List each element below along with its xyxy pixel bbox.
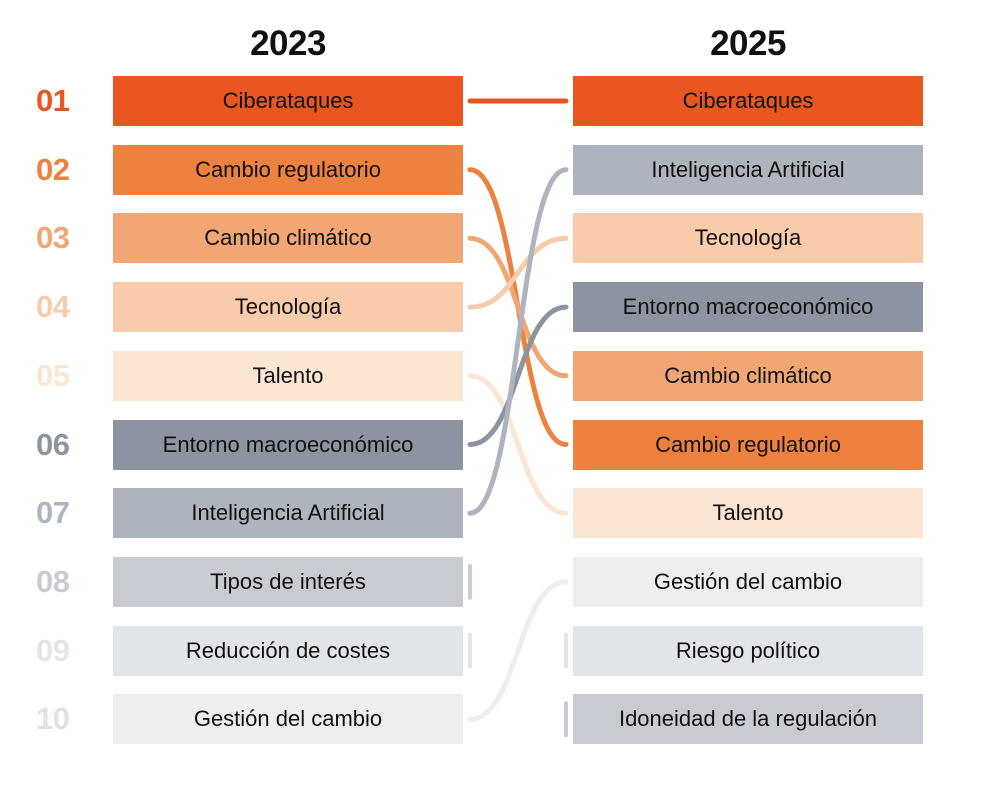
rank-number-06: 06	[36, 420, 96, 470]
rank-bar[interactable]: Ciberataques	[573, 76, 923, 126]
rank-bar[interactable]: Cambio climático	[113, 213, 463, 263]
rank-bar[interactable]: Gestión del cambio	[113, 694, 463, 744]
connector-line	[470, 582, 566, 719]
connector-line	[470, 238, 566, 375]
rank-bar[interactable]: Tipos de interés	[113, 557, 463, 607]
rank-bar[interactable]: Entorno macroeconómico	[113, 420, 463, 470]
rank-bar[interactable]: Ciberataques	[113, 76, 463, 126]
rank-number-07: 07	[36, 488, 96, 538]
rank-number-04: 04	[36, 282, 96, 332]
connector-line	[470, 170, 566, 514]
rank-bar[interactable]: Talento	[113, 351, 463, 401]
rank-bar[interactable]: Talento	[573, 488, 923, 538]
rank-bar[interactable]: Tecnología	[113, 282, 463, 332]
rank-bar[interactable]: Inteligencia Artificial	[573, 145, 923, 195]
rank-bar[interactable]: Cambio regulatorio	[573, 420, 923, 470]
rank-bar[interactable]: Cambio climático	[573, 351, 923, 401]
connector-line	[470, 376, 566, 513]
connector-line	[470, 170, 566, 445]
rank-bar[interactable]: Cambio regulatorio	[113, 145, 463, 195]
rank-bar[interactable]: Gestión del cambio	[573, 557, 923, 607]
rank-bar[interactable]: Entorno macroeconómico	[573, 282, 923, 332]
rank-number-05: 05	[36, 351, 96, 401]
rank-number-02: 02	[36, 145, 96, 195]
rank-number-03: 03	[36, 213, 96, 263]
bump-chart: 2023 2025 01Ciberataques02Cambio regulat…	[0, 0, 1000, 803]
connector-line	[470, 307, 566, 444]
rank-bar[interactable]: Reducción de costes	[113, 626, 463, 676]
rank-number-08: 08	[36, 557, 96, 607]
rank-bar[interactable]: Inteligencia Artificial	[113, 488, 463, 538]
column-header-2025: 2025	[573, 22, 923, 66]
rank-number-10: 10	[36, 694, 96, 744]
rank-number-09: 09	[36, 626, 96, 676]
rank-number-01: 01	[36, 76, 96, 126]
rank-bar[interactable]: Idoneidad de la regulación	[573, 694, 923, 744]
rank-bar[interactable]: Riesgo político	[573, 626, 923, 676]
rank-bar[interactable]: Tecnología	[573, 213, 923, 263]
connector-line	[470, 238, 566, 307]
column-header-2023: 2023	[113, 22, 463, 66]
